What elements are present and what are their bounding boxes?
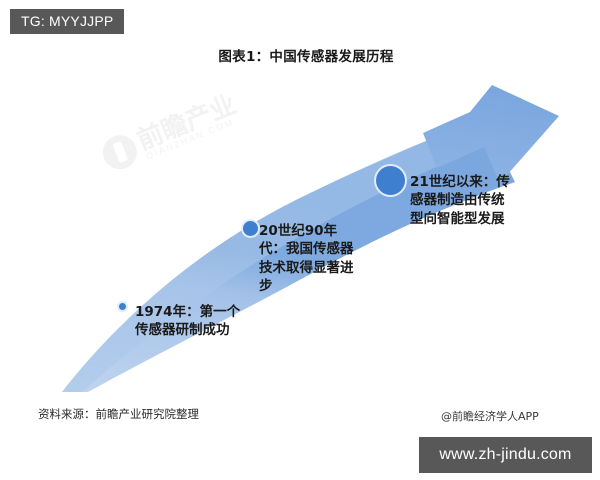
milestone-dot-1990s bbox=[241, 219, 260, 238]
screenshot-root: 前瞻产业 QIANZHAN.COM TG: MYYJJPP 图表1：中国传感器发… bbox=[0, 0, 600, 480]
app-attribution: @前瞻经济学人APP bbox=[441, 408, 539, 424]
milestone-dot-1974 bbox=[117, 301, 128, 312]
milestone-dot-21c bbox=[374, 164, 407, 197]
milestone-label-21c: 21世纪以来：传感器制造由传统型向智能型发展 bbox=[410, 173, 510, 228]
site-url-badge: www.zh-jindu.com bbox=[419, 437, 592, 473]
source-note: 资料来源：前瞻产业研究院整理 bbox=[38, 406, 199, 422]
tg-badge: TG: MYYJJPP bbox=[10, 9, 124, 34]
milestone-label-1974: 1974年：第一个传感器研制成功 bbox=[135, 303, 250, 340]
milestone-label-1990s: 20世纪90年代：我国传感器技术取得显著进步 bbox=[259, 222, 363, 295]
page-title: 图表1：中国传感器发展历程 bbox=[0, 45, 600, 65]
